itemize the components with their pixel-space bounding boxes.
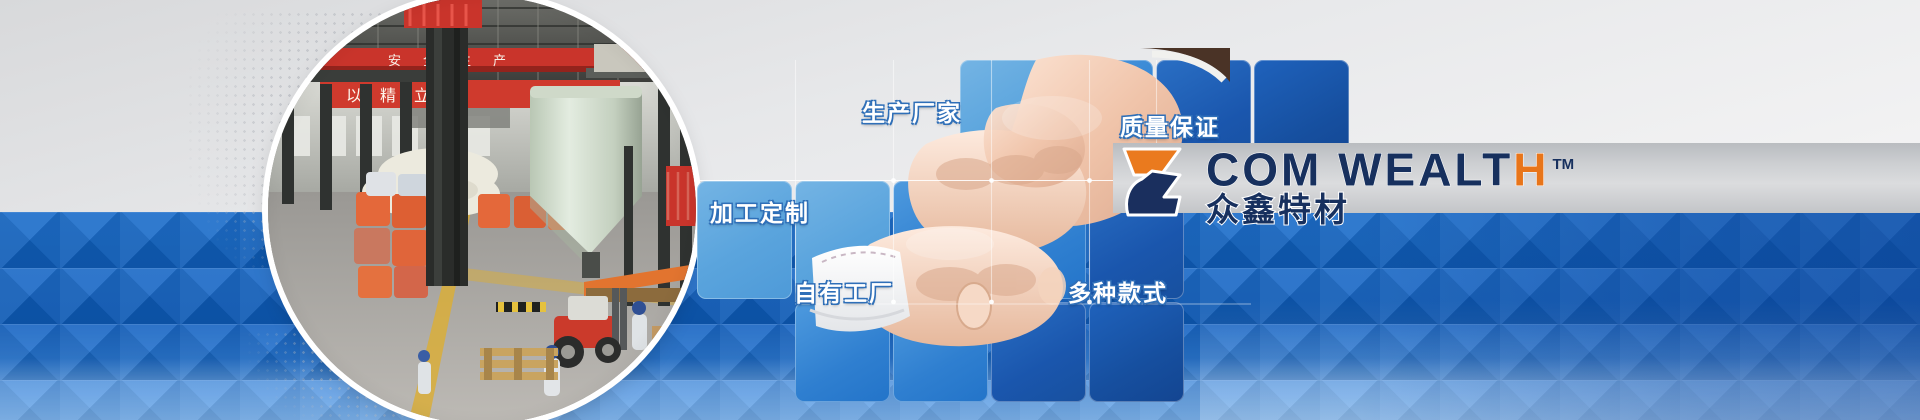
logo-english-main: COM WEALT bbox=[1206, 143, 1513, 195]
bottom-sheen bbox=[1200, 300, 1920, 420]
factory-photo-illustration: 安全生产 以精立业 bbox=[268, 0, 696, 420]
logo-english-name: COM WEALTHTM bbox=[1206, 142, 1574, 192]
logo-english-accent: H bbox=[1513, 143, 1549, 195]
feature-label-quality-assurance: 质量保证 bbox=[1120, 108, 1220, 142]
logo-text-block: COM WEALTHTM 众鑫特材 bbox=[1206, 140, 1574, 227]
factory-photo-circle: 安全生产 以精立业 bbox=[268, 0, 696, 420]
trademark-symbol: TM bbox=[1552, 156, 1574, 173]
promotional-banner: 安全生产 以精立业 bbox=[0, 0, 1920, 420]
logo-chinese-name: 众鑫特材 bbox=[1206, 193, 1574, 227]
feature-label-custom-processing: 加工定制 bbox=[710, 194, 810, 228]
z-monogram-icon bbox=[1118, 145, 1192, 223]
company-logo: COM WEALTHTM 众鑫特材 bbox=[1118, 140, 1574, 227]
feature-label-multiple-styles: 多种款式 bbox=[1068, 274, 1168, 308]
feature-label-manufacturer: 生产厂家 bbox=[862, 94, 962, 128]
z-monogram-svg bbox=[1118, 145, 1192, 223]
feature-label-own-factory: 自有工厂 bbox=[794, 274, 894, 308]
